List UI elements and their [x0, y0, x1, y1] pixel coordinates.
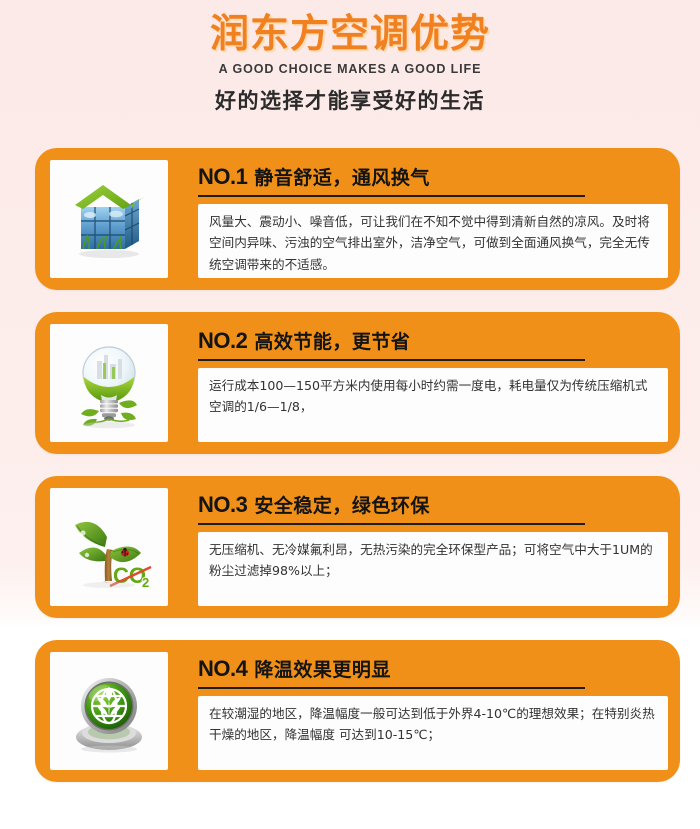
card-number: NO.3	[198, 492, 247, 518]
card-description: 风量大、震动小、噪音低，可让我们在不知不觉中得到清新自然的凉风。及时将空间内异味…	[209, 211, 658, 276]
card-thumbnail: CO 2	[50, 488, 168, 606]
green-glass-house-icon	[59, 169, 159, 269]
feature-card-list: NO.1 静音舒适，通风换气 风量大、震动小、噪音低，可让我们在不知不觉中得到清…	[0, 148, 700, 782]
card-thumbnail	[50, 160, 168, 278]
feature-card: CO 2 NO.3 安全稳定，绿色环保 无压缩机、无冷媒氟利昂，无热污染的完全环…	[35, 476, 680, 618]
card-description-box: 无压缩机、无冷媒氟利昂，无热污染的完全环保型产品；可将空气中大于1UM的粉尘过滤…	[198, 532, 668, 606]
card-number: NO.2	[198, 328, 247, 354]
green-globe-leaf-badge-icon	[59, 661, 159, 761]
subtitle-english: A GOOD CHOICE MAKES A GOOD LIFE	[0, 62, 700, 76]
card-content: NO.4 降温效果更明显 在较潮湿的地区，降温幅度一般可达到低于外界4-10℃的…	[198, 652, 668, 770]
card-number: NO.1	[198, 164, 247, 190]
card-description: 运行成本100—150平方米内使用每小时约需一度电，耗电量仅为传统压缩机式空调的…	[209, 375, 658, 418]
svg-text:2: 2	[142, 575, 149, 590]
feature-card: NO.1 静音舒适，通风换气 风量大、震动小、噪音低，可让我们在不知不觉中得到清…	[35, 148, 680, 290]
feature-card: NO.4 降温效果更明显 在较潮湿的地区，降温幅度一般可达到低于外界4-10℃的…	[35, 640, 680, 782]
card-description: 在较潮湿的地区，降温幅度一般可达到低于外界4-10℃的理想效果；在特别炎热干燥的…	[209, 703, 658, 746]
card-thumbnail	[50, 324, 168, 442]
card-description: 无压缩机、无冷媒氟利昂，无热污染的完全环保型产品；可将空气中大于1UM的粉尘过滤…	[209, 539, 658, 582]
card-number: NO.4	[198, 656, 247, 682]
eco-lightbulb-icon	[59, 333, 159, 433]
card-heading: NO.1 静音舒适，通风换气	[198, 163, 585, 197]
page-root: 润东方空调优势 A GOOD CHOICE MAKES A GOOD LIFE …	[0, 0, 700, 829]
card-content: NO.1 静音舒适，通风换气 风量大、震动小、噪音低，可让我们在不知不觉中得到清…	[198, 160, 668, 278]
card-title: 安全稳定，绿色环保	[254, 491, 430, 518]
card-heading: NO.2 高效节能，更节省	[198, 327, 585, 361]
page-header: 润东方空调优势 A GOOD CHOICE MAKES A GOOD LIFE …	[0, 0, 700, 115]
card-description-box: 风量大、震动小、噪音低，可让我们在不知不觉中得到清新自然的凉风。及时将空间内异味…	[198, 204, 668, 278]
card-description-box: 运行成本100—150平方米内使用每小时约需一度电，耗电量仅为传统压缩机式空调的…	[198, 368, 668, 442]
card-content: NO.2 高效节能，更节省 运行成本100—150平方米内使用每小时约需一度电，…	[198, 324, 668, 442]
card-title: 高效节能，更节省	[254, 327, 410, 354]
card-description-box: 在较潮湿的地区，降温幅度一般可达到低于外界4-10℃的理想效果；在特别炎热干燥的…	[198, 696, 668, 770]
card-title: 静音舒适，通风换气	[254, 163, 430, 190]
card-thumbnail	[50, 652, 168, 770]
card-heading: NO.4 降温效果更明显	[198, 655, 585, 689]
card-heading: NO.3 安全稳定，绿色环保	[198, 491, 585, 525]
page-title: 润东方空调优势	[0, 13, 700, 57]
subtitle-chinese: 好的选择才能享受好的生活	[0, 85, 700, 115]
card-title: 降温效果更明显	[254, 655, 391, 682]
feature-card: NO.2 高效节能，更节省 运行成本100—150平方米内使用每小时约需一度电，…	[35, 312, 680, 454]
card-content: NO.3 安全稳定，绿色环保 无压缩机、无冷媒氟利昂，无热污染的完全环保型产品；…	[198, 488, 668, 606]
co2-sapling-icon: CO 2	[59, 497, 159, 597]
